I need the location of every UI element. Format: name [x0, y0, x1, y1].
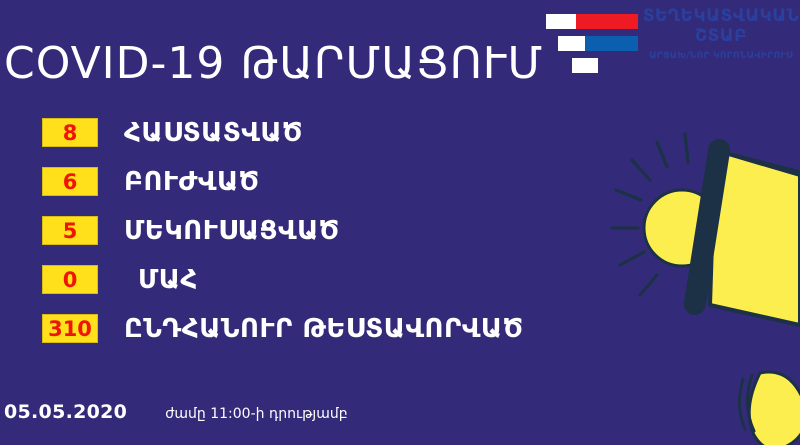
logo-bars [546, 12, 642, 76]
stat-label-total-tested: ԸՆԴՀԱՆՈՒՐ ԹԵՍՏԱՎՈՐՎԱԾ [124, 314, 524, 344]
logo-orange-bar [572, 58, 638, 73]
logo-text-block: ՏԵՂԵԿԱՏՎԱԿԱՆ ՇՏԱԲ ԱՐՑԱԽ/ՆՈՐ ԿՈՐՈՆԱՎԻՐՈՒՍ [642, 8, 800, 61]
logo-title-line-2: ՇՏԱԲ [642, 28, 800, 46]
statistics-list: 8 ՀԱՍՏԱՏՎԱԾ 6 ԲՈՒԺՎԱԾ 5 ՄԵԿՈՒՍԱՑՎԱԾ 0 ՄԱ… [42, 108, 602, 353]
corner-accent-shape [730, 355, 800, 445]
logo-orange-bar-white-segment [572, 58, 598, 73]
report-date: 05.05.2020 [4, 401, 127, 423]
stat-value-total-tested: 310 [42, 314, 98, 343]
footer: 05.05.2020 ժամը 11:00-ի դրությամբ [4, 401, 348, 423]
page-title: COVID-19 ԹԱՐՄԱՑՈՒՄ [4, 38, 543, 89]
stat-label-confirmed: ՀԱՍՏԱՏՎԱԾ [124, 118, 303, 148]
stat-label-isolated: ՄԵԿՈՒՍԱՑՎԱԾ [124, 216, 340, 246]
stat-value-deaths: 0 [42, 265, 98, 294]
megaphone-icon [610, 120, 800, 350]
organization-logo: ՏԵՂԵԿԱՏՎԱԿԱՆ ՇՏԱԲ ԱՐՑԱԽ/ՆՈՐ ԿՈՐՈՆԱՎԻՐՈՒՍ [546, 8, 800, 86]
logo-blue-bar-color-segment [585, 36, 638, 51]
logo-subtitle: ԱՐՑԱԽ/ՆՈՐ ԿՈՐՈՆԱՎԻՐՈՒՍ [642, 52, 800, 61]
stat-label-deaths: ՄԱՀ [138, 265, 198, 295]
logo-red-bar-white-segment [546, 14, 576, 29]
covid-update-poster: ՏԵՂԵԿԱՏՎԱԿԱՆ ՇՏԱԲ ԱՐՑԱԽ/ՆՈՐ ԿՈՐՈՆԱՎԻՐՈՒՍ… [0, 0, 800, 445]
stat-row-recovered: 6 ԲՈՒԺՎԱԾ [42, 157, 602, 206]
report-time-note: ժամը 11:00-ի դրությամբ [165, 406, 347, 422]
logo-red-bar [546, 14, 638, 29]
stat-value-recovered: 6 [42, 167, 98, 196]
stat-row-confirmed: 8 ՀԱՍՏԱՏՎԱԾ [42, 108, 602, 157]
logo-title-line-1: ՏԵՂԵԿԱՏՎԱԿԱՆ [642, 8, 800, 26]
stat-value-confirmed: 8 [42, 118, 98, 147]
stat-row-total-tested: 310 ԸՆԴՀԱՆՈՒՐ ԹԵՍՏԱՎՈՐՎԱԾ [42, 304, 602, 353]
logo-blue-bar-white-segment [558, 36, 585, 51]
stat-row-deaths: 0 ՄԱՀ [42, 255, 602, 304]
logo-red-bar-color-segment [576, 14, 638, 29]
stat-value-isolated: 5 [42, 216, 98, 245]
stat-label-recovered: ԲՈՒԺՎԱԾ [124, 167, 260, 197]
stat-row-isolated: 5 ՄԵԿՈՒՍԱՑՎԱԾ [42, 206, 602, 255]
logo-blue-bar [558, 36, 638, 51]
logo-orange-bar-color-segment [598, 58, 638, 73]
